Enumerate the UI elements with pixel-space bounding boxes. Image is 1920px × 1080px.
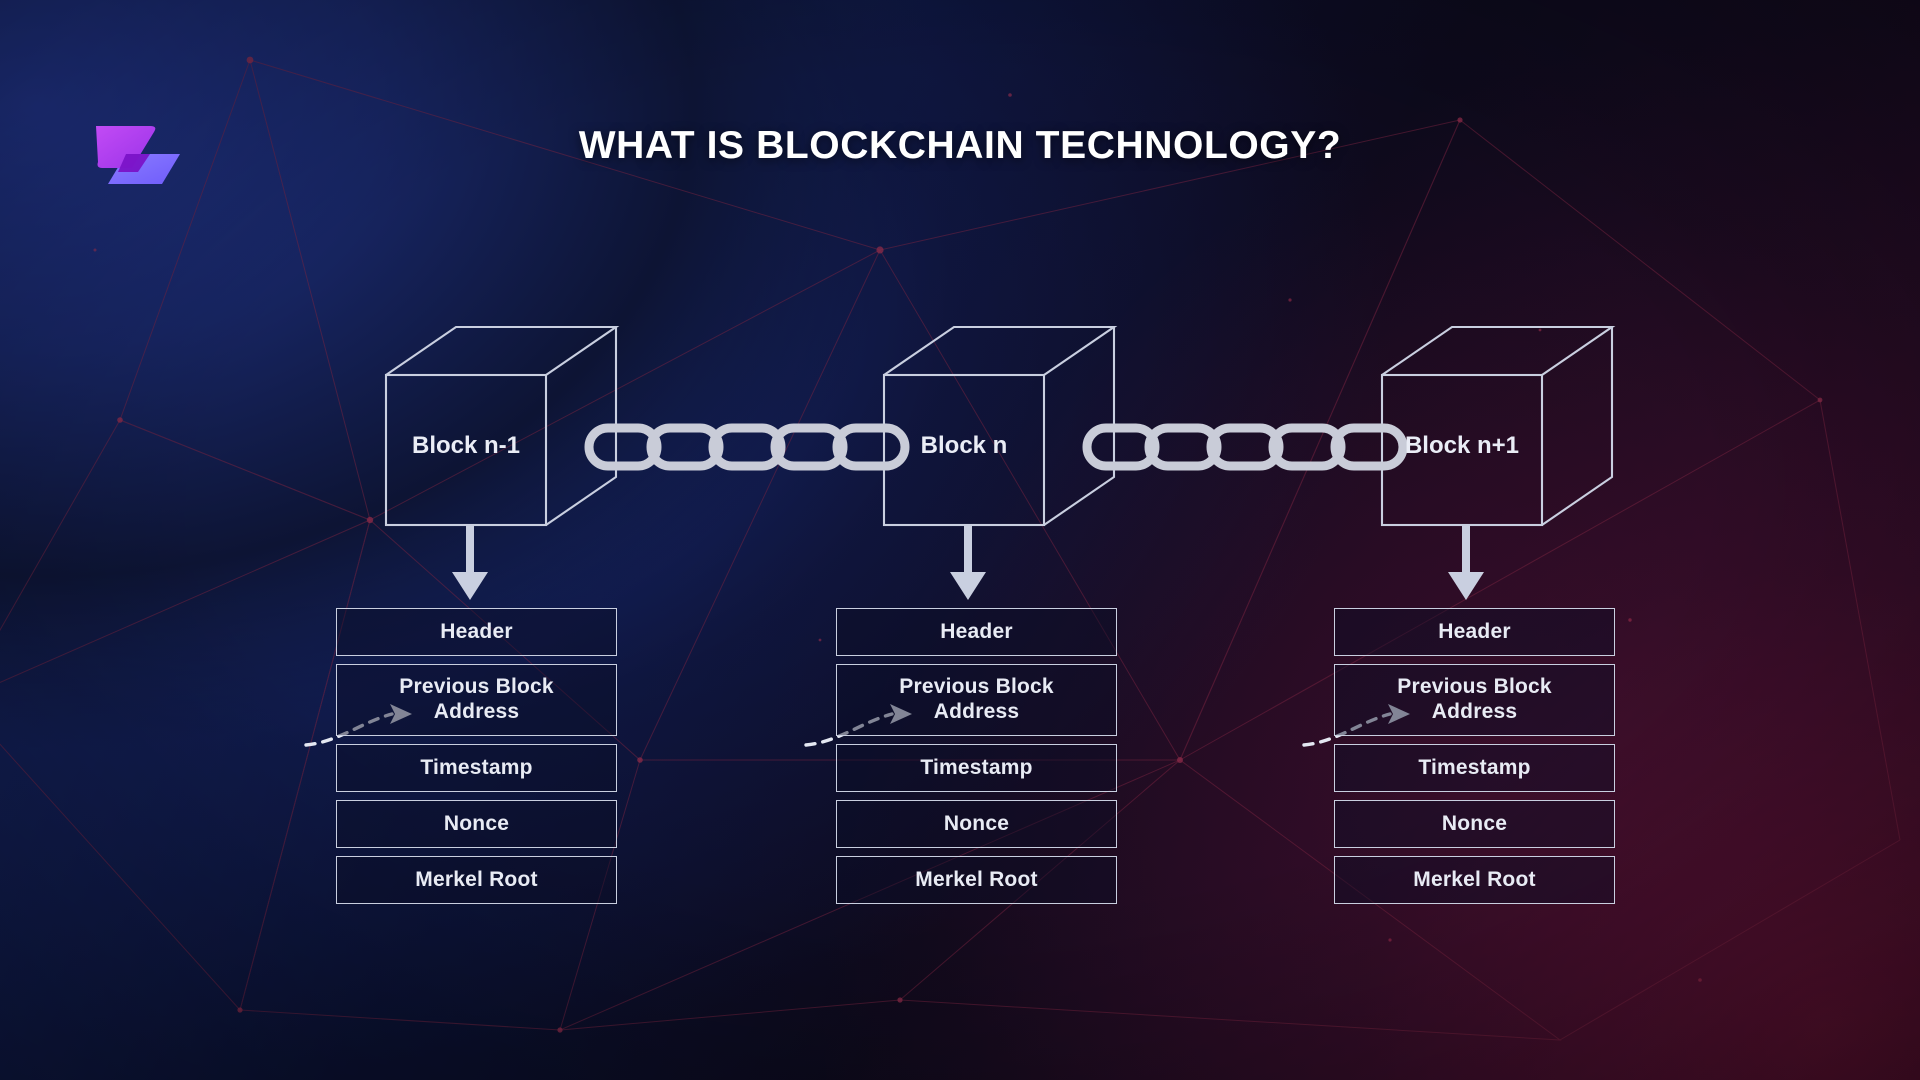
block-fields-column-3: Header Previous Block Address Timestamp … [1334,608,1615,912]
chain-segment-2 [1087,428,1403,466]
cube-block-n [884,327,1114,525]
arrow-cube-to-header-3 [1448,525,1484,600]
field-merkel-root[interactable]: Merkel Root [836,856,1117,904]
field-previous-block-address[interactable]: Previous Block Address [336,664,617,736]
field-timestamp[interactable]: Timestamp [336,744,617,792]
field-nonce[interactable]: Nonce [1334,800,1615,848]
field-line-2: Address [434,700,519,725]
cube-block-n-plus-1 [1382,327,1612,525]
cube-block-n-minus-1 [386,327,616,525]
field-merkel-root[interactable]: Merkel Root [1334,856,1615,904]
block-fields-column-2: Header Previous Block Address Timestamp … [836,608,1117,912]
field-nonce[interactable]: Nonce [336,800,617,848]
field-header[interactable]: Header [1334,608,1615,656]
blockchain-diagram-graphics: Block n-1 Block n Block n+1 [0,0,1920,1080]
field-timestamp[interactable]: Timestamp [836,744,1117,792]
field-line-1: Previous Block [899,675,1054,700]
field-previous-block-address[interactable]: Previous Block Address [836,664,1117,736]
field-timestamp[interactable]: Timestamp [1334,744,1615,792]
field-merkel-root[interactable]: Merkel Root [336,856,617,904]
cube-label-2: Block n [921,432,1008,459]
field-line-1: Previous Block [1397,675,1552,700]
slide-canvas: WHAT IS BLOCKCHAIN TECHNOLOGY? [0,0,1920,1080]
field-header[interactable]: Header [336,608,617,656]
field-header[interactable]: Header [836,608,1117,656]
cube-label-3: Block n+1 [1405,432,1519,459]
cube-label-1: Block n-1 [412,432,520,459]
chain-segment-1 [589,428,905,466]
field-line-1: Previous Block [399,675,554,700]
field-nonce[interactable]: Nonce [836,800,1117,848]
block-fields-column-1: Header Previous Block Address Timestamp … [336,608,617,912]
field-previous-block-address[interactable]: Previous Block Address [1334,664,1615,736]
arrow-cube-to-header-2 [950,525,986,600]
field-line-2: Address [1432,700,1517,725]
field-line-2: Address [934,700,1019,725]
arrow-cube-to-header-1 [452,525,488,600]
